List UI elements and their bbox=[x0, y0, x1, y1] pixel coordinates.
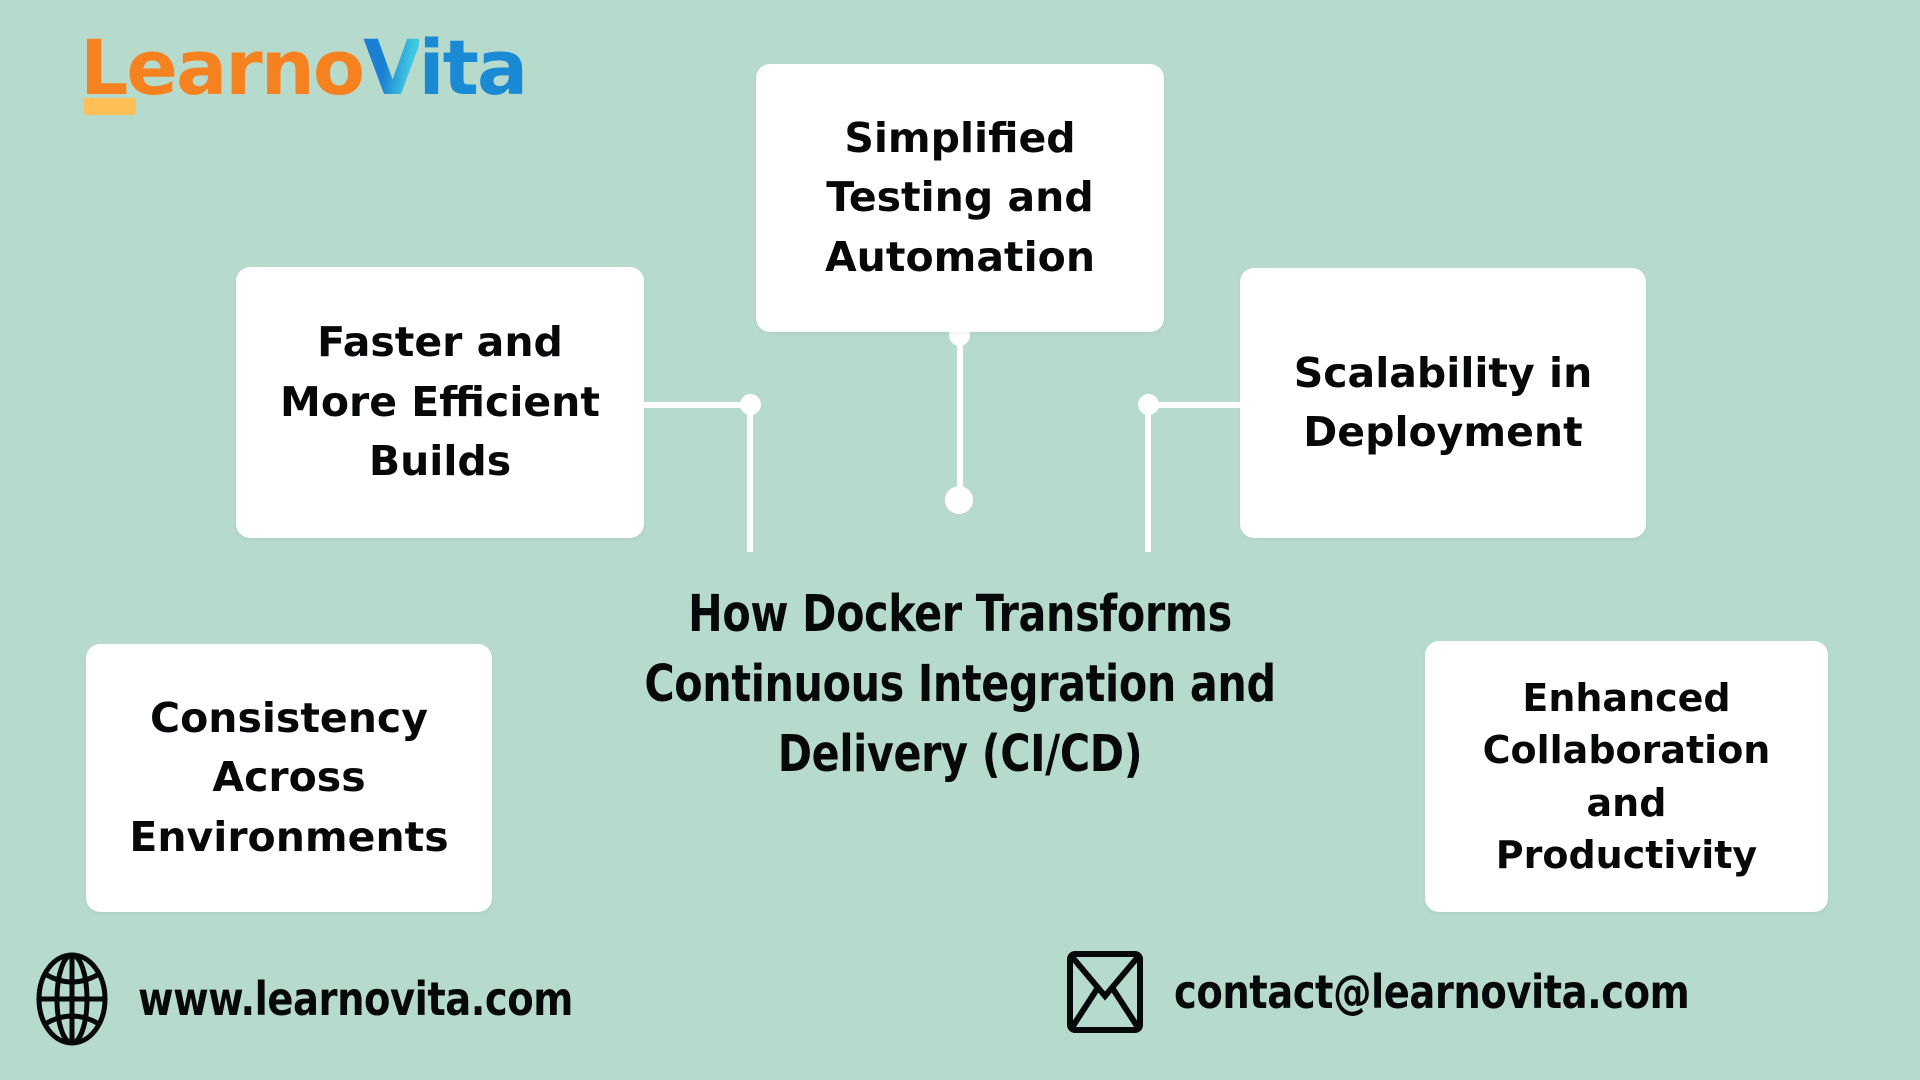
card-scalability-deployment-line-2: Deployment bbox=[1294, 403, 1593, 462]
footer-email[interactable]: contact@learnovita.com bbox=[1066, 948, 1728, 1036]
card-simplified-testing-line-1: Simplified bbox=[825, 109, 1095, 168]
connector-line-left-vertical bbox=[747, 404, 753, 552]
learnovita-logo[interactable]: LearnoVita bbox=[80, 30, 526, 106]
card-consistency-environments-line-3: Environments bbox=[129, 808, 448, 867]
card-enhanced-collaboration-line-2: Collaboration bbox=[1483, 724, 1771, 776]
infographic-canvas: LearnoVita Simplified Testing and Automa… bbox=[0, 0, 1920, 1080]
connector-line-left-horizontal bbox=[641, 402, 753, 408]
page-title-line-1: How Docker Transforms bbox=[564, 580, 1356, 650]
footer-website[interactable]: www.learnovita.com bbox=[36, 952, 606, 1046]
card-faster-builds-line-2: More Efficient bbox=[280, 373, 600, 432]
card-faster-builds[interactable]: Faster and More Efficient Builds bbox=[236, 267, 644, 538]
logo-accent-bar bbox=[84, 98, 136, 115]
card-faster-builds-line-1: Faster and bbox=[280, 313, 600, 372]
card-consistency-environments-line-2: Across bbox=[129, 748, 448, 807]
logo-text-ita: ita bbox=[419, 23, 527, 112]
page-title-line-3: Delivery (CI/CD) bbox=[564, 720, 1356, 790]
connector-dot-center-bottom bbox=[945, 486, 973, 514]
card-scalability-deployment-line-1: Scalability in bbox=[1294, 344, 1593, 403]
card-simplified-testing-line-3: Automation bbox=[825, 228, 1095, 287]
card-faster-builds-line-3: Builds bbox=[280, 432, 600, 491]
card-consistency-environments-line-1: Consistency bbox=[129, 689, 448, 748]
logo-text-v: V bbox=[363, 23, 418, 112]
card-simplified-testing[interactable]: Simplified Testing and Automation bbox=[756, 64, 1164, 332]
connector-line-center-vertical bbox=[957, 332, 963, 502]
envelope-icon bbox=[1066, 948, 1144, 1036]
connector-line-right-horizontal bbox=[1150, 402, 1250, 408]
footer-website-text: www.learnovita.com bbox=[138, 972, 573, 1026]
card-scalability-deployment[interactable]: Scalability in Deployment bbox=[1240, 268, 1646, 538]
card-enhanced-collaboration-line-3: and bbox=[1483, 777, 1771, 829]
connector-dot-right bbox=[1138, 394, 1159, 415]
card-simplified-testing-line-2: Testing and bbox=[825, 168, 1095, 227]
page-title: How Docker Transforms Continuous Integra… bbox=[564, 580, 1356, 790]
connector-dot-left bbox=[740, 394, 761, 415]
globe-icon bbox=[36, 952, 108, 1046]
card-enhanced-collaboration-line-4: Productivity bbox=[1483, 829, 1771, 881]
card-enhanced-collaboration-line-1: Enhanced bbox=[1483, 672, 1771, 724]
connector-line-right-vertical bbox=[1145, 404, 1151, 552]
card-consistency-environments[interactable]: Consistency Across Environments bbox=[86, 644, 492, 912]
footer-email-text: contact@learnovita.com bbox=[1174, 965, 1689, 1019]
page-title-line-2: Continuous Integration and bbox=[564, 650, 1356, 720]
card-enhanced-collaboration[interactable]: Enhanced Collaboration and Productivity bbox=[1425, 641, 1828, 912]
